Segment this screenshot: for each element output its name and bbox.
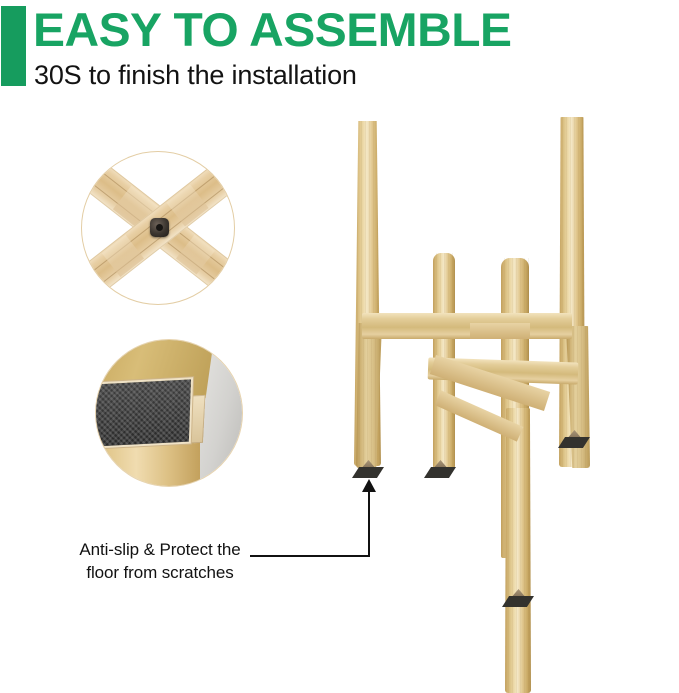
anti-slip-pad-surface <box>95 379 191 446</box>
page-subtitle: 30S to finish the installation <box>34 58 357 92</box>
header-banner: EASY TO ASSEMBLE 30S to finish the insta… <box>0 0 679 104</box>
callout-leader-horizontal <box>250 555 370 557</box>
green-accent-bar <box>1 6 26 86</box>
leg-front-long <box>505 408 531 693</box>
product-photo-table-frame <box>330 108 679 613</box>
rail-upper-notch <box>470 323 530 339</box>
callout-line-1: Anti-slip & Protect the <box>60 538 260 561</box>
rail-upper <box>362 313 572 339</box>
callout-text: Anti-slip & Protect the floor from scrat… <box>60 538 260 584</box>
callout-arrow-icon <box>362 479 376 492</box>
callout-line-2: floor from scratches <box>60 561 260 584</box>
brace-bolt-icon <box>150 218 169 237</box>
foot-pad-4 <box>502 589 534 607</box>
inset-cross-brace-joint <box>81 151 235 305</box>
foot-pad-1 <box>352 460 384 478</box>
callout-leader-vertical <box>368 490 370 557</box>
foot-pad-2 <box>424 460 456 478</box>
page-title: EASY TO ASSEMBLE <box>33 2 511 58</box>
foot-pad-3 <box>558 430 590 448</box>
inset-anti-slip-pad <box>95 339 243 487</box>
